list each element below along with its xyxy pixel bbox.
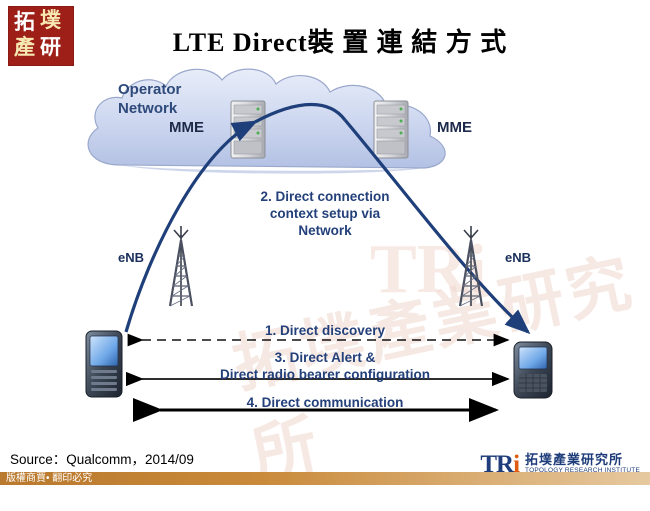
diagram-canvas <box>0 0 650 485</box>
tri-name-en: TOPOLOGY RESEARCH INSTITUTE <box>525 465 640 476</box>
step-3-line-2: Direct radio bearer configuration <box>175 366 475 383</box>
device-right-phone <box>514 342 552 398</box>
step-2-line-3: Network <box>215 222 435 239</box>
mme-server-left <box>231 101 265 158</box>
device-left-phone <box>86 331 122 397</box>
step-1-label: 1. Direct discovery <box>205 322 445 339</box>
step-2-line-1: 2. Direct connection <box>215 188 435 205</box>
operator-network-label: Operator Network <box>118 80 181 118</box>
footer-tri-logo: TRi 拓墣產業研究所 TOPOLOGY RESEARCH INSTITUTE <box>480 452 640 478</box>
operator-network-line-1: Operator <box>118 80 181 99</box>
step-3-label: 3. Direct Alert & Direct radio bearer co… <box>175 349 475 383</box>
step-2-line-2: context setup via <box>215 205 435 222</box>
step-3-line-1: 3. Direct Alert & <box>175 349 475 366</box>
tri-wordmark: TRi <box>480 451 519 479</box>
mme-label-right: MME <box>437 119 472 136</box>
enb-label-left: eNB <box>118 250 144 265</box>
enb-label-right: eNB <box>505 250 531 265</box>
source-note: Source：Qualcomm，2014/09 <box>10 448 194 468</box>
operator-network-line-2: Network <box>118 99 181 118</box>
mme-label-left: MME <box>169 119 204 136</box>
tri-name-cn: 拓墣產業研究所 <box>525 454 640 465</box>
step-2-label: 2. Direct connection context setup via N… <box>215 188 435 239</box>
step-4-label: 4. Direct communication <box>200 394 450 411</box>
mme-server-right <box>374 101 408 158</box>
enb-tower-left <box>170 226 192 306</box>
copyright-text: 版權商賈• 翻印必究 <box>6 472 92 485</box>
